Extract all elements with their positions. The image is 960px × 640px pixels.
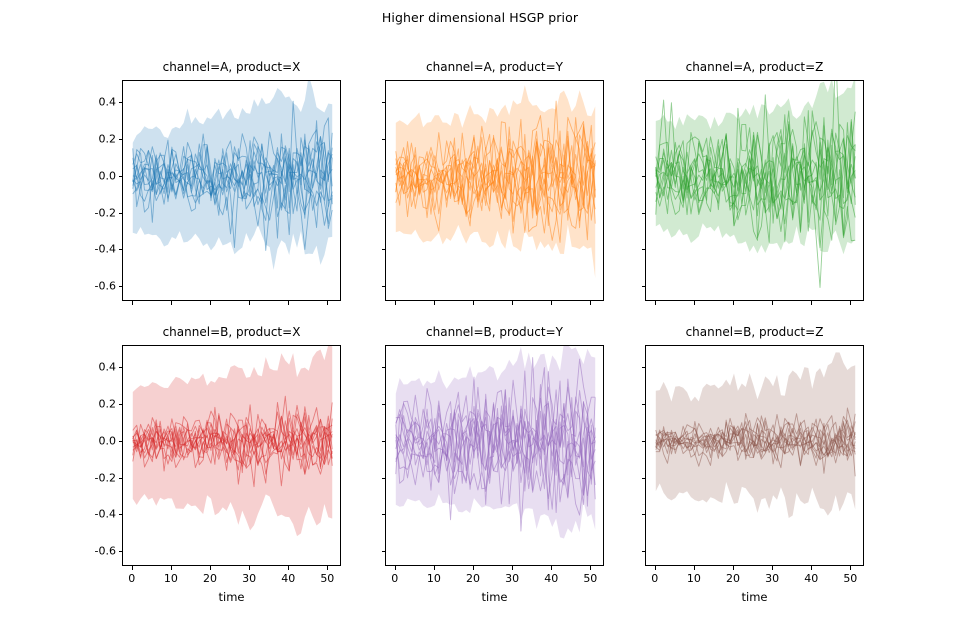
y-tick-mark <box>119 367 123 368</box>
y-tick-mark <box>119 176 123 177</box>
x-tick-mark <box>434 301 435 305</box>
x-tick-label: 30 <box>505 572 519 585</box>
y-tick-mark <box>642 102 646 103</box>
y-tick-label: 0.2 <box>99 132 117 145</box>
y-tick-mark <box>382 478 386 479</box>
y-tick-mark <box>382 139 386 140</box>
y-tick-mark <box>382 102 386 103</box>
x-tick-label: 40 <box>281 572 295 585</box>
y-tick-mark <box>382 404 386 405</box>
y-tick-label: -0.6 <box>95 280 116 293</box>
x-tick-mark <box>132 566 133 570</box>
x-tick-label: 40 <box>544 572 558 585</box>
axes-frame <box>645 345 864 566</box>
x-tick-mark <box>850 301 851 305</box>
y-tick-mark <box>642 478 646 479</box>
y-tick-label: -0.6 <box>95 545 116 558</box>
y-tick-label: 0.4 <box>99 361 117 374</box>
x-tick-mark <box>733 301 734 305</box>
x-tick-label: 20 <box>203 572 217 585</box>
x-tick-mark <box>210 301 211 305</box>
figure-title: Higher dimensional HSGP prior <box>0 10 960 25</box>
x-tick-label: 20 <box>726 572 740 585</box>
y-tick-mark <box>119 286 123 287</box>
y-tick-mark <box>382 551 386 552</box>
x-tick-mark <box>551 301 552 305</box>
x-tick-label: 50 <box>843 572 857 585</box>
x-tick-mark <box>551 566 552 570</box>
plot-area <box>646 346 864 566</box>
x-tick-label: 30 <box>242 572 256 585</box>
y-tick-mark <box>119 213 123 214</box>
y-tick-mark <box>642 551 646 552</box>
y-tick-mark <box>119 249 123 250</box>
x-tick-mark <box>210 566 211 570</box>
y-tick-mark <box>382 213 386 214</box>
x-tick-label: 10 <box>687 572 701 585</box>
axes-frame <box>645 80 864 301</box>
y-tick-mark <box>642 441 646 442</box>
y-tick-mark <box>119 478 123 479</box>
y-tick-label: 0.4 <box>99 96 117 109</box>
x-tick-mark <box>772 301 773 305</box>
subplot-title: channel=A, product=Y <box>385 60 604 74</box>
x-tick-label: 20 <box>466 572 480 585</box>
x-tick-label: 50 <box>583 572 597 585</box>
subplot-b-z: channel=B, product=Z01020304050time <box>645 345 864 566</box>
y-tick-mark <box>642 367 646 368</box>
plot-area <box>123 81 341 301</box>
x-tick-mark <box>473 301 474 305</box>
y-tick-mark <box>119 551 123 552</box>
x-tick-label: 0 <box>391 572 398 585</box>
axes-frame <box>122 345 341 566</box>
subplot-b-y: channel=B, product=Y01020304050time <box>385 345 604 566</box>
y-tick-label: -0.4 <box>95 508 116 521</box>
x-tick-mark <box>132 301 133 305</box>
x-tick-mark <box>512 301 513 305</box>
y-tick-label: -0.2 <box>95 471 116 484</box>
axes-frame <box>385 345 604 566</box>
x-tick-mark <box>434 566 435 570</box>
x-tick-mark <box>655 301 656 305</box>
subplot-a-x: channel=A, product=X0.40.20.0-0.2-0.4-0.… <box>122 80 341 301</box>
y-tick-label: 0.0 <box>99 434 117 447</box>
y-tick-mark <box>382 176 386 177</box>
x-tick-mark <box>288 566 289 570</box>
x-tick-mark <box>327 566 328 570</box>
axes-frame <box>385 80 604 301</box>
y-tick-mark <box>119 139 123 140</box>
y-tick-mark <box>119 514 123 515</box>
x-tick-label: 40 <box>804 572 818 585</box>
x-tick-label: 50 <box>320 572 334 585</box>
x-axis-label: time <box>645 590 864 604</box>
x-tick-mark <box>249 566 250 570</box>
y-tick-mark <box>382 367 386 368</box>
y-tick-mark <box>642 249 646 250</box>
x-tick-mark <box>772 566 773 570</box>
x-tick-mark <box>288 301 289 305</box>
y-tick-mark <box>642 139 646 140</box>
y-tick-label: 0.0 <box>99 169 117 182</box>
x-tick-mark <box>473 566 474 570</box>
subplot-b-x: channel=B, product=X0.40.20.0-0.2-0.4-0.… <box>122 345 341 566</box>
x-tick-mark <box>171 566 172 570</box>
x-tick-mark <box>327 301 328 305</box>
figure-canvas: Higher dimensional HSGP prior channel=A,… <box>0 0 960 640</box>
y-tick-mark <box>382 249 386 250</box>
y-tick-mark <box>382 286 386 287</box>
x-tick-mark <box>395 301 396 305</box>
y-tick-mark <box>642 404 646 405</box>
y-tick-label: -0.4 <box>95 243 116 256</box>
y-tick-mark <box>642 514 646 515</box>
plot-area <box>386 346 604 566</box>
y-tick-label: -0.2 <box>95 206 116 219</box>
subplot-title: channel=B, product=Y <box>385 325 604 339</box>
x-tick-mark <box>850 566 851 570</box>
x-tick-mark <box>694 566 695 570</box>
axes-frame <box>122 80 341 301</box>
x-axis-label: time <box>385 590 604 604</box>
x-tick-label: 0 <box>651 572 658 585</box>
y-tick-label: 0.2 <box>99 397 117 410</box>
x-tick-mark <box>171 301 172 305</box>
x-tick-mark <box>249 301 250 305</box>
plot-area <box>123 346 341 566</box>
subplot-title: channel=B, product=Z <box>645 325 864 339</box>
x-tick-mark <box>395 566 396 570</box>
y-tick-mark <box>642 286 646 287</box>
y-tick-mark <box>382 441 386 442</box>
y-tick-mark <box>642 213 646 214</box>
subplot-title: channel=A, product=Z <box>645 60 864 74</box>
subplot-a-z: channel=A, product=Z <box>645 80 864 301</box>
x-tick-mark <box>655 566 656 570</box>
plot-area <box>646 81 864 301</box>
subplot-title: channel=A, product=X <box>122 60 341 74</box>
y-tick-mark <box>119 102 123 103</box>
x-tick-label: 10 <box>164 572 178 585</box>
subplot-title: channel=B, product=X <box>122 325 341 339</box>
x-axis-label: time <box>122 590 341 604</box>
x-tick-mark <box>811 566 812 570</box>
y-tick-mark <box>119 404 123 405</box>
y-tick-mark <box>382 514 386 515</box>
x-tick-label: 0 <box>128 572 135 585</box>
y-tick-mark <box>642 176 646 177</box>
x-tick-label: 30 <box>765 572 779 585</box>
x-tick-mark <box>512 566 513 570</box>
x-tick-mark <box>694 301 695 305</box>
x-tick-label: 10 <box>427 572 441 585</box>
y-tick-mark <box>119 441 123 442</box>
x-tick-mark <box>590 301 591 305</box>
plot-area <box>386 81 604 301</box>
subplot-a-y: channel=A, product=Y <box>385 80 604 301</box>
x-tick-mark <box>811 301 812 305</box>
x-tick-mark <box>733 566 734 570</box>
x-tick-mark <box>590 566 591 570</box>
